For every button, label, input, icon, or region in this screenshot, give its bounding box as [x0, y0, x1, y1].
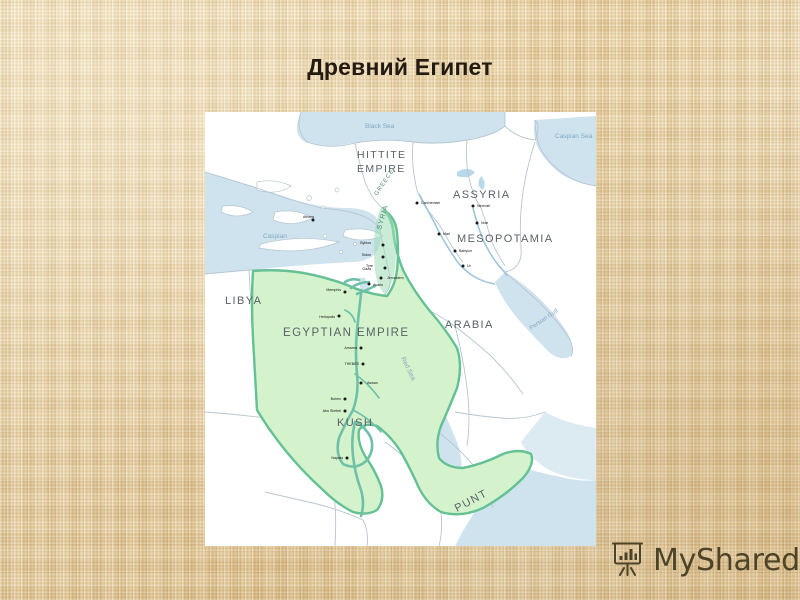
city-label-jerusalem: Jerusalem	[387, 276, 404, 280]
city-label-athens: Athens	[303, 215, 314, 219]
slide-canvas: Древний Египет	[0, 0, 800, 600]
city-label-byblos: Byblos	[360, 241, 371, 245]
city-label-thebes: THEBES	[345, 362, 360, 366]
city-label-amarna: Amarna	[344, 346, 357, 350]
city-label-napata: Napata	[331, 456, 343, 460]
region-label-egyptian-empire: EGYPTIAN EMPIRE	[283, 327, 409, 339]
region-label-libya: LIBYA	[225, 295, 262, 307]
map-image: Black Sea Caspian Sea Caspian Red Sea Pe…	[205, 112, 596, 546]
region-label-arabia: ARABIA	[445, 319, 494, 331]
myshared-brand-text: MyShared	[653, 543, 800, 578]
city-label-mari: Mari	[443, 232, 450, 236]
sea-label-black-sea: Black Sea	[365, 123, 395, 130]
city-label-sidon: Sidon	[362, 253, 371, 257]
region-label-assyria: ASSYRIA	[453, 189, 511, 201]
myshared-watermark: MyShared	[611, 536, 800, 584]
city-label-nuzi: Nuzi	[481, 221, 488, 225]
city-label-memphis: Memphis	[326, 288, 341, 292]
sea-label-mediterranean-sea: Caspian	[263, 233, 287, 240]
city-label-gaza: Gaza	[362, 267, 371, 271]
page-title: Древний Египет	[0, 54, 800, 81]
region-label-kush: KUSH	[337, 417, 373, 429]
region-label-mesopotamia: MESOPOTAMIA	[457, 233, 553, 245]
city-label-heliopolis: Heliopolis	[319, 315, 335, 319]
ancient-near-east-map: Black Sea Caspian Sea Caspian Red Sea Pe…	[205, 112, 596, 546]
region-label-hittite: HITTITE	[357, 149, 406, 161]
city-label-buhen: Buhen	[331, 397, 341, 401]
region-label-empire: EMPIRE	[357, 163, 406, 175]
city-label-abu-simbel: Abu Simbel	[323, 409, 342, 413]
city-label-aswan: Aswan	[367, 381, 378, 385]
city-label-carchemish: Carchemish	[421, 201, 440, 205]
flipchart-bar-chart-icon	[611, 540, 645, 581]
city-label-ninevah: Ninevah	[477, 204, 490, 208]
sea-label-caspian-sea: Caspian Sea	[555, 133, 593, 140]
city-label-babylon: Babylon	[459, 249, 472, 253]
city-label-avaris: Avaris	[373, 283, 383, 287]
